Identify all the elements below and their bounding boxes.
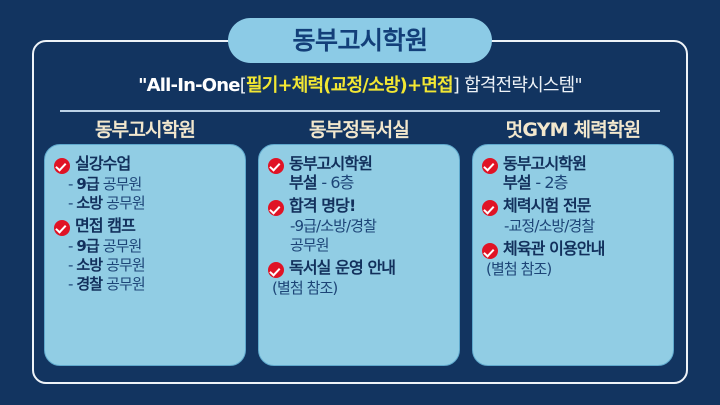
list-item-bold: 9급 (76, 237, 98, 255)
list-item: - 9급 공무원 (54, 175, 237, 193)
group-title: 동부고시학원부설 - 2층 (503, 155, 586, 192)
subtitle-quote-open: " (138, 75, 147, 96)
group-title: 면접 캠프 (75, 217, 135, 236)
group-title-line2-bold: 부설 (289, 173, 317, 192)
check-circle-icon (482, 200, 498, 216)
subtitle-highlight: 필기+체력(교정/소방)+면접 (246, 75, 453, 96)
list-item: (별첨 참조) (268, 279, 451, 297)
list-group: 합격 명당! -9급/소방/경찰 공무원 (268, 197, 451, 254)
list-group: 동부고시학원부설 - 6층 (268, 155, 451, 192)
subtitle: "All-In-One[필기+체력(교정/소방)+면접] 합격전략시스템" (38, 76, 682, 95)
group-heading: 체력시험 전문 (482, 197, 665, 216)
list-item: (별첨 참조) (482, 260, 665, 278)
list-group: 체육관 이용안내 (별첨 참조) (482, 240, 665, 278)
list-item-rest: 공무원 (106, 256, 145, 274)
list-item-rest: 공무원 (103, 175, 142, 193)
column-card: 실강수업 - 9급 공무원 - 소방 공무원 (44, 144, 246, 366)
group-heading: 실강수업 (54, 155, 237, 174)
list-item: - 소방 공무원 (54, 194, 237, 212)
group-heading: 체육관 이용안내 (482, 240, 665, 259)
list-item: - 소방 공무원 (54, 256, 237, 274)
list-item-rest: 9급/소방/경찰 (295, 217, 376, 235)
list-group: 실강수업 - 9급 공무원 - 소방 공무원 (54, 155, 237, 212)
list-dash: - (68, 275, 73, 293)
group-title: 합격 명당! (289, 197, 355, 216)
check-circle-icon (54, 158, 70, 174)
group-title: 동부고시학원부설 - 6층 (289, 155, 372, 192)
subtitle-bracket-close: ] (453, 75, 459, 96)
header-divider (60, 110, 660, 112)
list-item-rest: 공무원 (106, 194, 145, 212)
check-circle-icon (268, 158, 284, 174)
list-item-rest: 교정/소방/경찰 (509, 217, 595, 235)
group-title-line2-soft: - 6층 (321, 173, 353, 192)
group-heading: 동부고시학원부설 - 6층 (268, 155, 451, 192)
list-item-rest: (별첨 참조) (486, 260, 551, 278)
list-group: 면접 캠프 - 9급 공무원 - 소방 공무원 - 경찰 (54, 217, 237, 293)
check-circle-icon (482, 158, 498, 174)
list-item-rest: 공무원 (103, 237, 142, 255)
subtitle-tail: 합격전략시스템 (464, 75, 574, 96)
column-card: 동부고시학원부설 - 6층 합격 명당! -9급/소방/경찰 공무원 (258, 144, 460, 366)
group-heading: 독서실 운영 안내 (268, 259, 451, 278)
list-item: 공무원 (268, 236, 451, 254)
group-title: 체력시험 전문 (503, 197, 591, 216)
group-title: 체육관 이용안내 (503, 240, 604, 259)
list-item: -9급/소방/경찰 (268, 217, 451, 235)
poster-root: 동부고시학원 "All-In-One[필기+체력(교정/소방)+면접] 합격전략… (0, 0, 720, 405)
list-dash: - (68, 175, 73, 193)
columns-container: 동부고시학원 실강수업 - 9급 공무원 - 소방 공무원 (44, 116, 676, 366)
column-card: 동부고시학원부설 - 2층 체력시험 전문 -교정/소방/경찰 체육 (472, 144, 674, 366)
group-heading: 동부고시학원부설 - 2층 (482, 155, 665, 192)
list-item-rest: 공무원 (290, 236, 329, 254)
check-circle-icon (268, 200, 284, 216)
group-title-line1: 동부고시학원 (289, 154, 372, 173)
column-dongbu-jeongdok: 동부정독서실 동부고시학원부설 - 6층 합격 명당! -9급/소방/경찰 (258, 116, 460, 366)
list-group: 독서실 운영 안내 (별첨 참조) (268, 259, 451, 297)
group-heading: 합격 명당! (268, 197, 451, 216)
list-item: -교정/소방/경찰 (482, 217, 665, 235)
list-item-rest: 공무원 (106, 275, 145, 293)
list-item: - 경찰 공무원 (54, 275, 237, 293)
list-dash: - (68, 237, 73, 255)
subtitle-quote-close: " (574, 75, 581, 96)
column-dongbu-gosi: 동부고시학원 실강수업 - 9급 공무원 - 소방 공무원 (44, 116, 246, 366)
group-title-line2-soft: - 2층 (535, 173, 567, 192)
group-title: 독서실 운영 안내 (289, 259, 395, 278)
group-heading: 면접 캠프 (54, 217, 237, 236)
poster-title: 동부고시학원 (292, 28, 427, 53)
list-item-rest: (별첨 참조) (272, 279, 337, 297)
list-item-bold: 경찰 (76, 275, 102, 293)
list-dash: - (68, 256, 73, 274)
list-item: - 9급 공무원 (54, 237, 237, 255)
list-item-bold: 소방 (76, 256, 102, 274)
list-dash: - (68, 194, 73, 212)
list-item-bold: 9급 (76, 175, 98, 193)
group-title-line2-bold: 부설 (503, 173, 531, 192)
check-circle-icon (54, 220, 70, 236)
group-title-line1: 동부고시학원 (503, 154, 586, 173)
subtitle-lead: All-In-One (147, 75, 240, 96)
list-group: 체력시험 전문 -교정/소방/경찰 (482, 197, 665, 235)
column-header: 동부고시학원 (44, 116, 246, 144)
group-title: 실강수업 (75, 155, 130, 174)
check-circle-icon (268, 262, 284, 278)
column-header: 멋GYM 체력학원 (472, 116, 674, 144)
list-group: 동부고시학원부설 - 2층 (482, 155, 665, 192)
list-item-bold: 소방 (76, 194, 102, 212)
title-badge: 동부고시학원 (228, 18, 492, 63)
column-header: 동부정독서실 (258, 116, 460, 144)
check-circle-icon (482, 243, 498, 259)
column-meot-gym: 멋GYM 체력학원 동부고시학원부설 - 2층 체력시험 전문 -교정/소방/경… (472, 116, 674, 366)
